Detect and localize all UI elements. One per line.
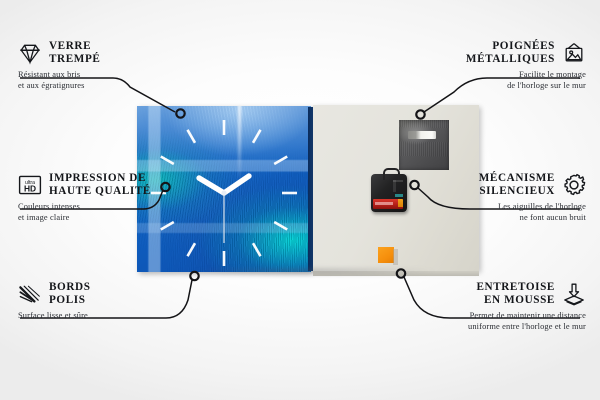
product-image	[137, 105, 479, 273]
picture-hanger-icon	[562, 41, 586, 65]
callout-impression-haute-qualite: ultra HD IMPRESSION DE HAUTE QUALITÉ Cou…	[18, 172, 151, 224]
ultra-hd-icon: ultra HD	[18, 173, 42, 197]
mechanism-label	[395, 194, 403, 197]
battery	[373, 199, 403, 209]
glass-reflection-bands	[137, 106, 311, 272]
callout-title: ENTRETOISE EN MOUSSE	[476, 281, 555, 307]
callout-description: Surface lisse et sûre	[18, 311, 91, 322]
foam-spacer	[378, 247, 394, 263]
callout-verre-trempe: VERRE TREMPÉ Résistant aux bris et aux é…	[18, 40, 100, 92]
down-arrow-layers-icon	[562, 282, 586, 306]
mechanism-hanging-loop	[383, 168, 400, 180]
callout-title: IMPRESSION DE HAUTE QUALITÉ	[49, 172, 151, 198]
callout-bords-polis: BORDS POLIS Surface lisse et sûre	[18, 281, 91, 322]
callout-title: MÉCANISME SILENCIEUX	[479, 172, 555, 198]
metal-hanger-plate	[399, 120, 449, 170]
callout-description: Permet de maintenir une distance uniform…	[468, 311, 586, 332]
infographic-canvas: VERRE TREMPÉ Résistant aux bris et aux é…	[0, 0, 600, 400]
callout-description: Les aiguilles de l'horloge ne font aucun…	[479, 202, 586, 223]
mechanism-detail	[393, 180, 403, 192]
callout-title: POIGNÉES MÉTALLIQUES	[466, 40, 555, 66]
callout-description: Résistant aux bris et aux égratignures	[18, 70, 100, 91]
svg-text:HD: HD	[24, 184, 36, 194]
gear-icon	[562, 173, 586, 197]
diamond-icon	[18, 41, 42, 65]
product-shadow	[140, 268, 486, 282]
callout-title: VERRE TREMPÉ	[49, 40, 100, 66]
callout-poignees-metalliques: POIGNÉES MÉTALLIQUES Facilite le montage…	[466, 40, 586, 92]
callout-entretoise-en-mousse: ENTRETOISE EN MOUSSE Permet de maintenir…	[468, 281, 586, 333]
battery-terminal	[398, 199, 403, 207]
callout-title: BORDS POLIS	[49, 281, 91, 307]
callout-mecanisme-silencieux: MÉCANISME SILENCIEUX Les aiguilles de l'…	[479, 172, 586, 224]
callout-description: Couleurs intenses et image claire	[18, 202, 151, 223]
polished-edges-icon	[18, 282, 42, 306]
clock-back-panel	[313, 105, 479, 271]
hanger-slot	[408, 131, 436, 139]
quartz-mechanism	[371, 174, 407, 212]
clock-front-panel	[137, 106, 311, 272]
glass-glare-streak	[238, 106, 241, 182]
callout-description: Facilite le montage de l'horloge sur le …	[466, 70, 586, 91]
